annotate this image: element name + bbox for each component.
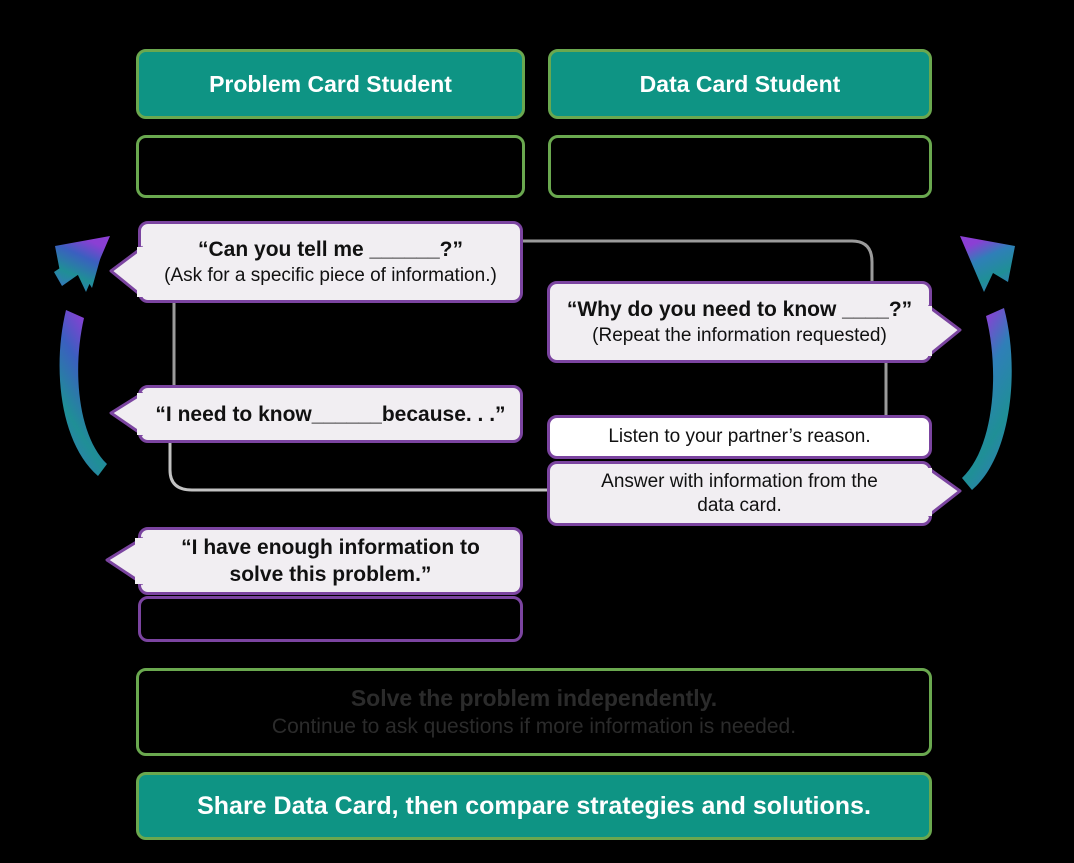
bubble-need-line1: “I need to know______because. . .”	[155, 401, 505, 428]
box-listen-to-partner-reason: Listen to your partner’s reason.	[547, 415, 932, 459]
header-problem-card-student: Problem Card Student	[136, 49, 525, 119]
bubble-enough-line1: “I have enough information to	[181, 534, 480, 561]
blank-box-right-top	[548, 135, 932, 198]
connector-need-to-answer	[160, 438, 560, 500]
blank-box-left-top	[136, 135, 525, 198]
bubble-ask-for-information: “Can you tell me ______?” (Ask for a spe…	[138, 221, 523, 303]
header-data-card-student: Data Card Student	[548, 49, 932, 119]
connector-why-to-listen	[880, 360, 892, 422]
bubble-ask-line1: “Can you tell me ______?”	[198, 236, 463, 263]
header-data-card-student-label: Data Card Student	[640, 71, 841, 98]
right-cycle-arrow	[916, 218, 1026, 503]
bubble-why-line1: “Why do you need to know ____?”	[567, 296, 912, 323]
footer-share-data-card: Share Data Card, then compare strategies…	[136, 772, 932, 840]
bubble-i-need-to-know: “I need to know______because. . .”	[138, 385, 523, 443]
diagram-canvas: Problem Card Student Data Card Student “…	[0, 0, 1074, 863]
blank-box-left-bottom	[138, 596, 523, 642]
bubble-i-have-enough-information: “I have enough information to solve this…	[138, 527, 523, 595]
header-problem-card-student-label: Problem Card Student	[209, 71, 452, 98]
box-answer-with-information: Answer with information from the data ca…	[547, 461, 932, 526]
footer-solve-line2: Continue to ask questions if more inform…	[272, 713, 796, 741]
connector-ask-to-need	[168, 300, 180, 390]
box-answer-line2: data card.	[697, 494, 782, 518]
footer-solve-line1: Solve the problem independently.	[351, 683, 717, 713]
box-listen-label: Listen to your partner’s reason.	[608, 425, 870, 449]
bubble-enough-line2: solve this problem.”	[230, 561, 432, 588]
footer-share-label: Share Data Card, then compare strategies…	[197, 792, 871, 821]
box-answer-line1: Answer with information from the	[601, 470, 878, 494]
bubble-why-line2: (Repeat the information requested)	[592, 323, 887, 348]
bubble-why-do-you-need-to-know: “Why do you need to know ____?” (Repeat …	[547, 281, 932, 363]
bubble-ask-line2: (Ask for a specific piece of information…	[164, 263, 497, 288]
footer-solve-independently: Solve the problem independently. Continu…	[136, 668, 932, 756]
